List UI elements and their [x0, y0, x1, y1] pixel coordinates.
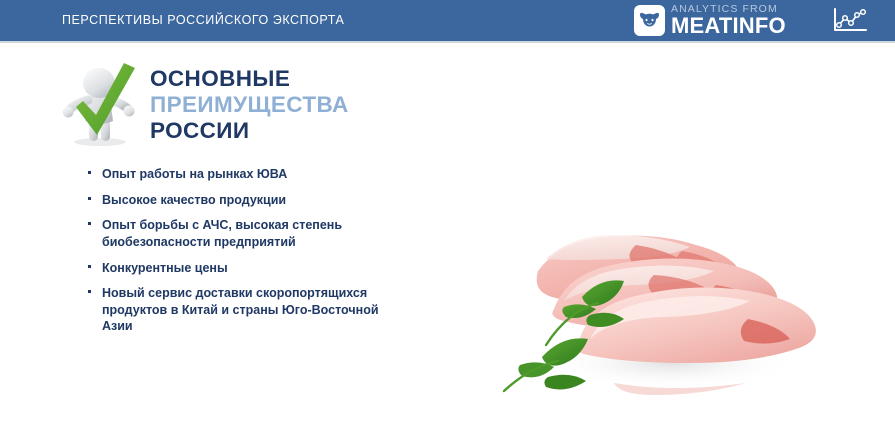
list-item-label: Новый сервис доставки скоропортящихся пр…: [102, 285, 408, 335]
header-bar: ПЕРСПЕКТИВЫ РОССИЙСКОГО ЭКСПОРТА ANALYTI…: [0, 0, 895, 41]
list-item: Опыт борьбы с АЧС, высокая степень биобе…: [88, 217, 408, 250]
bullet-square-icon: [88, 166, 102, 174]
list-item: Конкурентные цены: [88, 260, 408, 277]
line-chart-icon: [828, 6, 872, 36]
advantages-list: Опыт работы на рынках ЮВА Высокое качест…: [88, 166, 408, 344]
bullet-square-icon: [88, 285, 102, 293]
title-line-1: ОСНОВНЫЕ: [150, 66, 349, 92]
list-item: Новый сервис доставки скоропортящихся пр…: [88, 285, 408, 335]
title-line-3: РОССИИ: [150, 118, 349, 144]
list-item-label: Опыт борьбы с АЧС, высокая степень биобе…: [102, 217, 408, 250]
bullet-square-icon: [88, 217, 102, 225]
list-item: Опыт работы на рынках ЮВА: [88, 166, 408, 183]
logo-brand: MEATINFO: [671, 15, 786, 37]
list-item-label: Опыт работы на рынках ЮВА: [102, 166, 287, 183]
page-title: ПЕРСПЕКТИВЫ РОССИЙСКОГО ЭКСПОРТА: [62, 13, 344, 27]
bullet-square-icon: [88, 260, 102, 268]
bullet-square-icon: [88, 192, 102, 200]
figure-with-green-checkmark-icon: [56, 57, 142, 147]
pork-chops-with-parsley-photo: [486, 205, 826, 405]
meatinfo-logo: ANALYTICS FROM MEATINFO: [634, 2, 786, 39]
title-line-2: ПРЕИМУЩЕСТВА: [150, 92, 349, 118]
slide-title: ОСНОВНЫЕ ПРЕИМУЩЕСТВА РОССИИ: [150, 66, 349, 144]
header-divider: [0, 41, 895, 43]
bull-head-icon: [634, 5, 665, 36]
list-item: Высокое качество продукции: [88, 192, 408, 209]
list-item-label: Высокое качество продукции: [102, 192, 286, 209]
list-item-label: Конкурентные цены: [102, 260, 228, 277]
